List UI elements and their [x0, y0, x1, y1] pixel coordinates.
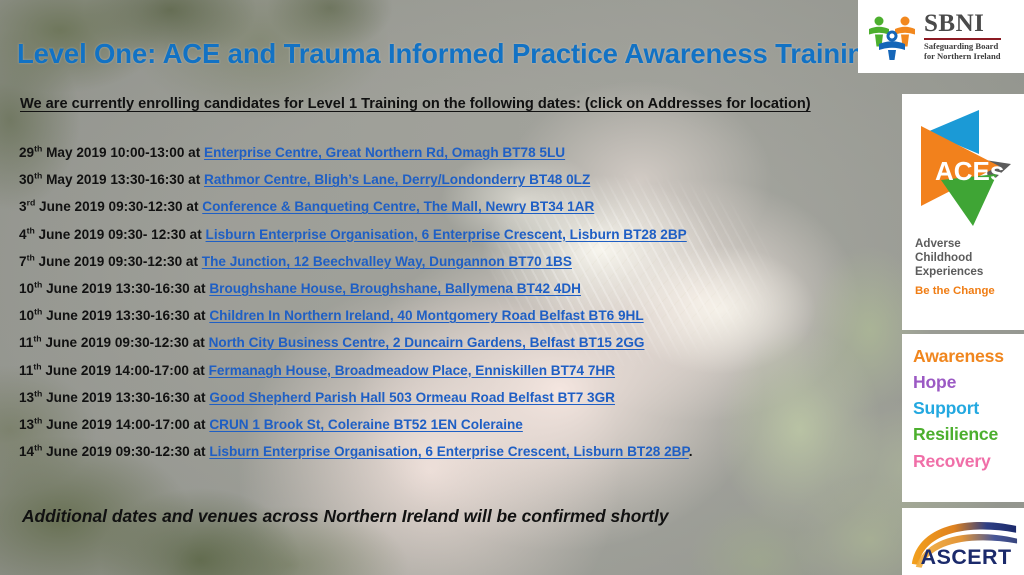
training-date-row: 11th June 2019 14:00-17:00 at Fermanagh …: [19, 361, 849, 388]
venue-address-link[interactable]: Enterprise Centre, Great Northern Rd, Om…: [204, 145, 565, 160]
sbni-acronym: SBNI: [924, 11, 1001, 36]
values-words-panel: AwarenessHopeSupportResilienceRecovery: [902, 334, 1024, 502]
training-date-text: 4th June 2019 09:30- 12:30 at: [19, 227, 206, 242]
value-word-awareness: Awareness: [913, 343, 1024, 369]
aces-word-line3: Experiences: [915, 265, 1024, 279]
venue-address-link[interactable]: Lisburn Enterprise Organisation, 6 Enter…: [209, 444, 688, 459]
enrolment-subtitle: We are currently enrolling candidates fo…: [20, 96, 811, 112]
date-ordinal-suffix: th: [33, 334, 41, 344]
venue-address-link[interactable]: CRUN 1 Brook St, Coleraine BT52 1EN Cole…: [209, 417, 523, 432]
training-date-text: 10th June 2019 13:30-16:30 at: [19, 308, 209, 323]
slide-canvas: Level One: ACE and Trauma Informed Pract…: [0, 0, 1024, 575]
venue-address-link[interactable]: Lisburn Enterprise Organisation, 6 Enter…: [206, 227, 687, 242]
date-ordinal-suffix: th: [34, 279, 42, 289]
venue-address-link[interactable]: Fermanagh House, Broadmeadow Place, Enni…: [209, 363, 615, 378]
date-ordinal-suffix: th: [34, 443, 42, 453]
date-ordinal-suffix: th: [34, 388, 42, 398]
sbni-divider-rule: [924, 38, 1001, 40]
training-date-row: 14th June 2019 09:30-12:30 at Lisburn En…: [19, 442, 849, 469]
venue-address-link[interactable]: The Junction, 12 Beechvalley Way, Dungan…: [202, 254, 572, 269]
training-date-row: 3rd June 2019 09:30-12:30 at Conference …: [19, 197, 849, 224]
training-date-row: 13th June 2019 14:00-17:00 at CRUN 1 Bro…: [19, 415, 849, 442]
svg-text:ASCERT: ASCERT: [921, 544, 1012, 568]
venue-address-link[interactable]: Rathmor Centre, Bligh’s Lane, Derry/Lond…: [204, 172, 590, 187]
training-date-text: 11th June 2019 09:30-12:30 at: [19, 335, 209, 350]
date-ordinal-suffix: th: [34, 307, 42, 317]
training-date-text: 10th June 2019 13:30-16:30 at: [19, 281, 209, 296]
svg-text:ACEs: ACEs: [935, 156, 1004, 186]
venue-address-link[interactable]: North City Business Centre, 2 Duncairn G…: [209, 335, 645, 350]
training-date-text: 7th June 2019 09:30-12:30 at: [19, 254, 202, 269]
training-date-text: 29th May 2019 10:00-13:00 at: [19, 145, 204, 160]
value-word-hope: Hope: [913, 369, 1024, 395]
date-ordinal-suffix: th: [27, 225, 35, 235]
value-word-resilience: Resilience: [913, 421, 1024, 447]
value-word-support: Support: [913, 395, 1024, 421]
training-date-text: 13th June 2019 14:00-17:00 at: [19, 417, 209, 432]
training-date-text: 30th May 2019 13:30-16:30 at: [19, 172, 204, 187]
date-ordinal-suffix: th: [27, 252, 35, 262]
venue-address-link[interactable]: Broughshane House, Broughshane, Ballymen…: [209, 281, 581, 296]
date-ordinal-suffix: rd: [27, 198, 36, 208]
aces-word-line1: Adverse: [915, 237, 1024, 251]
ascert-arc-icon: ASCERT: [907, 513, 1019, 571]
training-dates-list: 29th May 2019 10:00-13:00 at Enterprise …: [19, 143, 849, 469]
training-date-text: 3rd June 2019 09:30-12:30 at: [19, 199, 202, 214]
date-ordinal-suffix: th: [34, 415, 42, 425]
training-date-row: 10th June 2019 13:30-16:30 at Broughshan…: [19, 279, 849, 306]
sbni-people-icon: [867, 14, 917, 60]
sbni-logo-panel: SBNI Safeguarding Board for Northern Ire…: [858, 0, 1024, 73]
aces-tagline: Be the Change: [915, 285, 1024, 297]
venue-trailing-punctuation: .: [689, 444, 693, 459]
aces-logo-panel: ACEs Adverse Childhood Experiences Be th…: [902, 94, 1024, 330]
aces-triangles-icon: ACEs: [913, 102, 1013, 230]
page-title: Level One: ACE and Trauma Informed Pract…: [17, 38, 881, 70]
training-date-text: 13th June 2019 13:30-16:30 at: [19, 390, 209, 405]
additional-dates-note: Additional dates and venues across North…: [22, 506, 669, 527]
venue-address-link[interactable]: Good Shepherd Parish Hall 503 Ormeau Roa…: [209, 390, 615, 405]
ascert-logo-panel: ASCERT: [902, 508, 1024, 575]
training-date-row: 13th June 2019 13:30-16:30 at Good Sheph…: [19, 388, 849, 415]
venue-address-link[interactable]: Children In Northern Ireland, 40 Montgom…: [209, 308, 643, 323]
training-date-row: 10th June 2019 13:30-16:30 at Children I…: [19, 306, 849, 333]
training-date-text: 11th June 2019 14:00-17:00 at: [19, 363, 209, 378]
training-date-row: 4th June 2019 09:30- 12:30 at Lisburn En…: [19, 225, 849, 252]
training-date-row: 11th June 2019 09:30-12:30 at North City…: [19, 333, 849, 360]
training-date-row: 29th May 2019 10:00-13:00 at Enterprise …: [19, 143, 849, 170]
training-date-row: 7th June 2019 09:30-12:30 at The Junctio…: [19, 252, 849, 279]
aces-word-line2: Childhood: [915, 251, 1024, 265]
sbni-subtitle-line2: for Northern Ireland: [924, 52, 1001, 62]
value-word-recovery: Recovery: [913, 448, 1024, 474]
date-ordinal-suffix: th: [34, 171, 42, 181]
venue-address-link[interactable]: Conference & Banqueting Centre, The Mall…: [202, 199, 594, 214]
training-date-row: 30th May 2019 13:30-16:30 at Rathmor Cen…: [19, 170, 849, 197]
date-ordinal-suffix: th: [33, 361, 41, 371]
date-ordinal-suffix: th: [34, 143, 42, 153]
training-date-text: 14th June 2019 09:30-12:30 at: [19, 444, 209, 459]
